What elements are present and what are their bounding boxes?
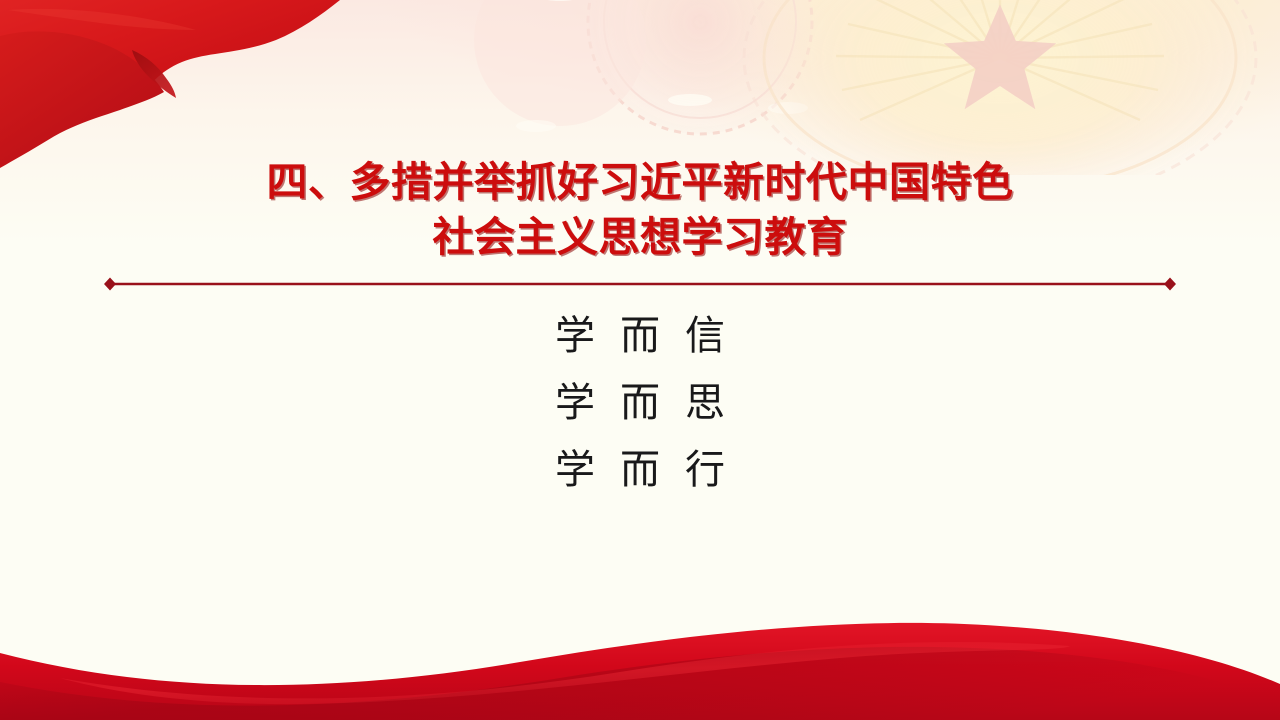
body-line-3: 学而行: [0, 437, 1280, 504]
presentation-slide: 四、多措并举抓好习近平新时代中国特色 社会主义思想学习教育 学而信 学而思 学而…: [0, 0, 1280, 720]
divider-left-diamond-icon: [104, 278, 116, 291]
title-line-2: 社会主义思想学习教育: [0, 210, 1280, 265]
body-line-1: 学而信: [0, 303, 1280, 370]
body-line-2: 学而思: [0, 370, 1280, 437]
title-line-1: 四、多措并举抓好习近平新时代中国特色: [0, 155, 1280, 210]
slide-body: 学而信 学而思 学而行: [0, 303, 1280, 504]
slide-title: 四、多措并举抓好习近平新时代中国特色 社会主义思想学习教育: [0, 155, 1280, 265]
divider-right-diamond-icon: [1164, 278, 1176, 291]
red-silk-wave: [0, 600, 1280, 720]
diamond-ended-divider: [103, 277, 1177, 291]
